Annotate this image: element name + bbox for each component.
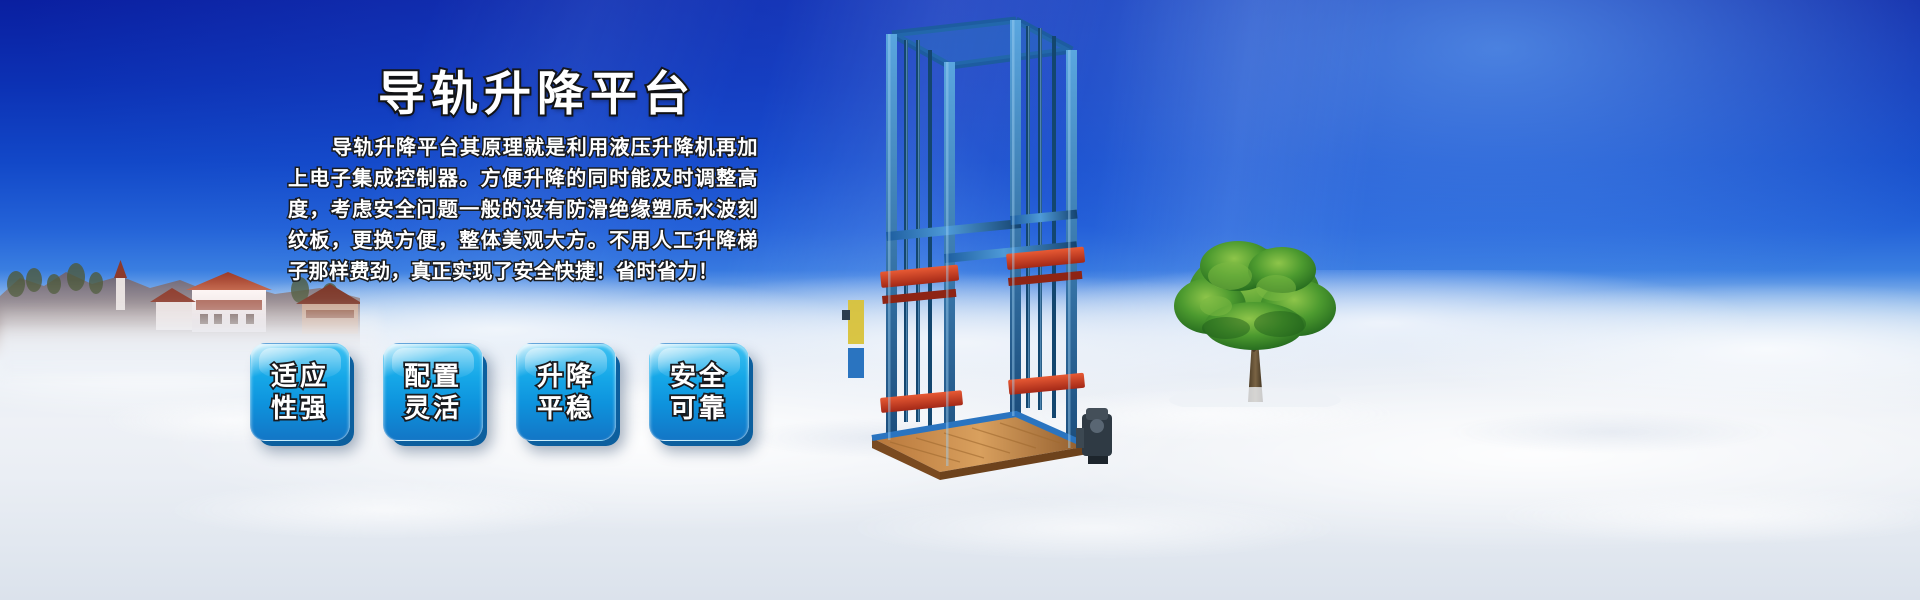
description-paragraph: 导轨升降平台其原理就是利用液压升降机再加上电子集成控制器。方便升降的同时能及时调… xyxy=(288,133,758,288)
badge-line-1: 安全 xyxy=(670,360,728,392)
promo-banner: 导轨升降平台 导轨升降平台其原理就是利用液压升降机再加上电子集成控制器。方便升降… xyxy=(0,0,1920,600)
hydraulic-power-unit-icon xyxy=(1076,408,1112,464)
description-text: 导轨升降平台其原理就是利用液压升降机再加上电子集成控制器。方便升降的同时能及时调… xyxy=(288,133,758,288)
badge-line-2: 平稳 xyxy=(537,392,595,424)
lift-platform-icon xyxy=(820,10,1140,480)
tree-illustration xyxy=(1130,232,1380,407)
feature-badge-safety[interactable]: 安全 可靠 xyxy=(649,343,749,441)
tree-icon xyxy=(1130,232,1380,407)
badge-line-2: 性强 xyxy=(271,392,329,424)
feature-badge-adaptability[interactable]: 适应 性强 xyxy=(250,343,350,441)
guide-rail-lift-platform-illustration xyxy=(820,10,1140,480)
badge-line-1: 升降 xyxy=(537,360,595,392)
page-title: 导轨升降平台 xyxy=(378,55,696,124)
badge-line-1: 配置 xyxy=(404,360,462,392)
badge-line-1: 适应 xyxy=(271,360,329,392)
badge-line-2: 灵活 xyxy=(404,392,462,424)
feature-badge-configuration[interactable]: 配置 灵活 xyxy=(383,343,483,441)
feature-badges: 适应 性强 配置 灵活 升降 平稳 安全 可靠 xyxy=(250,343,749,441)
feature-badge-lifting[interactable]: 升降 平稳 xyxy=(516,343,616,441)
badge-line-2: 可靠 xyxy=(670,392,728,424)
